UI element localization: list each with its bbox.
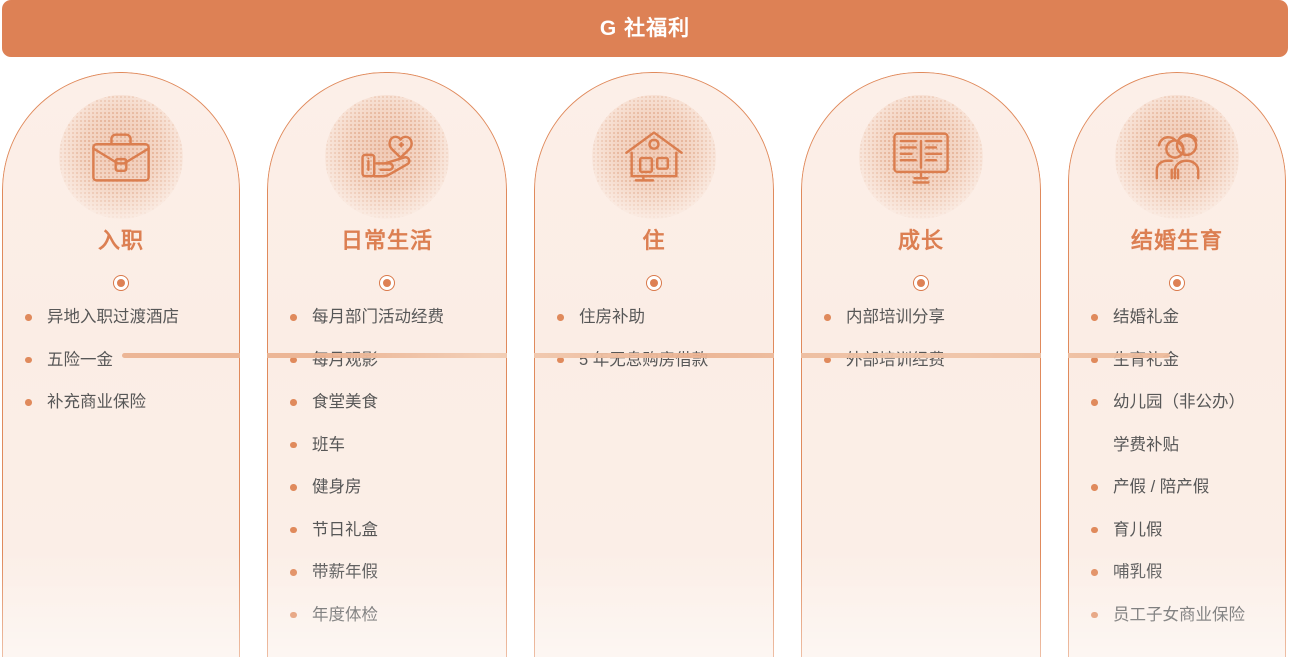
list-item: 食堂美食 xyxy=(268,390,506,414)
bullet-icon xyxy=(290,442,297,449)
list-item: 健身房 xyxy=(268,475,506,499)
bullet-icon xyxy=(25,399,32,406)
list-item-label: 每月部门活动经费 xyxy=(312,308,444,326)
bullet-icon xyxy=(290,484,297,491)
list-item-label: 内部培训分享 xyxy=(846,308,945,326)
bullet-icon xyxy=(1091,314,1098,321)
bullet-icon xyxy=(1091,612,1098,619)
list-item: 结婚礼金 xyxy=(1069,305,1285,329)
list-item-label: 食堂美食 xyxy=(312,393,378,411)
connector-gap xyxy=(1041,347,1068,365)
list-item: 节日礼盒 xyxy=(268,518,506,542)
briefcase-icon xyxy=(87,123,155,191)
list-item: 生育礼金 xyxy=(1069,348,1285,372)
list-item: 幼儿园（非公办） 学费补贴 xyxy=(1069,390,1285,457)
bullet-icon xyxy=(824,314,831,321)
list-item: 班车 xyxy=(268,433,506,457)
list-item-label: 带薪年假 xyxy=(312,563,378,581)
connector-gap xyxy=(507,347,534,365)
bullet-icon xyxy=(25,357,32,364)
benefit-card-daily-life[interactable]: 日常生活 每月部门活动经费 每月观影 食堂美食 班车 健身房 xyxy=(267,72,507,657)
benefit-columns: 入职 异地入职过渡酒店 五险一金 补充商业保险 xyxy=(0,72,1292,657)
hand-heart-icon xyxy=(353,123,421,191)
card-title: 结婚生育 xyxy=(1069,228,1285,254)
icon-container xyxy=(268,91,506,223)
bullet-icon xyxy=(1091,399,1098,406)
list-item: 每月观影 xyxy=(268,348,506,372)
bullet-icon xyxy=(557,314,564,321)
timeline-node-dot[interactable] xyxy=(913,275,929,291)
card-title: 日常生活 xyxy=(268,228,506,254)
list-item: 补充商业保险 xyxy=(3,390,239,414)
list-item: 员工子女商业保险 xyxy=(1069,603,1285,627)
timeline-node-dot[interactable] xyxy=(1169,275,1185,291)
list-item-label: 育儿假 xyxy=(1113,521,1163,539)
bullet-icon xyxy=(290,527,297,534)
timeline-node-dot[interactable] xyxy=(113,275,129,291)
list-item: 住房补助 xyxy=(535,305,773,329)
list-item-label: 哺乳假 xyxy=(1113,563,1163,581)
icon-container xyxy=(1069,91,1285,223)
card-title: 入职 xyxy=(3,228,239,254)
bullet-icon xyxy=(1091,569,1098,576)
list-item-label: 产假 / 陪产假 xyxy=(1113,478,1209,496)
bullet-icon xyxy=(1091,484,1098,491)
list-item-label: 健身房 xyxy=(312,478,362,496)
list-item-label: 节日礼盒 xyxy=(312,521,378,539)
connector-gap xyxy=(240,347,267,365)
list-item-label: 结婚礼金 xyxy=(1113,308,1179,326)
connector-gap xyxy=(774,347,801,365)
list-item: 五险一金 xyxy=(3,348,239,372)
benefit-list: 异地入职过渡酒店 五险一金 补充商业保险 xyxy=(3,305,239,433)
bullet-icon xyxy=(25,314,32,321)
list-item-label-continued: 学费补贴 xyxy=(1113,433,1275,457)
list-item: 异地入职过渡酒店 xyxy=(3,305,239,329)
benefit-card-growth[interactable]: 成长 内部培训分享 外部培训经费 xyxy=(801,72,1041,657)
list-item-label: 异地入职过渡酒店 xyxy=(47,308,179,326)
benefit-card-housing[interactable]: 住 住房补助 5 年无息购房借款 xyxy=(534,72,774,657)
monitor-book-icon xyxy=(887,123,955,191)
icon-container xyxy=(535,91,773,223)
list-item-label: 员工子女商业保险 xyxy=(1113,606,1245,624)
list-item: 每月部门活动经费 xyxy=(268,305,506,329)
list-item-label: 住房补助 xyxy=(579,308,645,326)
icon-container xyxy=(802,91,1040,223)
bullet-icon xyxy=(1091,527,1098,534)
timeline-node-dot[interactable] xyxy=(379,275,395,291)
list-item: 5 年无息购房借款 xyxy=(535,348,773,372)
page-title: G 社福利 xyxy=(600,18,690,39)
bullet-icon xyxy=(290,314,297,321)
benefit-card-marriage-parenting[interactable]: 结婚生育 结婚礼金 生育礼金 幼儿园（非公办） 学费补贴 产假 / 陪产假 xyxy=(1068,72,1286,657)
list-item-label: 补充商业保险 xyxy=(47,393,146,411)
list-item: 哺乳假 xyxy=(1069,560,1285,584)
list-item: 外部培训经费 xyxy=(802,348,1040,372)
couple-icon xyxy=(1143,123,1211,191)
list-item-label: 年度体检 xyxy=(312,606,378,624)
timeline-node-dot[interactable] xyxy=(646,275,662,291)
benefit-card-onboarding[interactable]: 入职 异地入职过渡酒店 五险一金 补充商业保险 xyxy=(2,72,240,657)
list-item-label: 班车 xyxy=(312,436,345,454)
list-item: 年度体检 xyxy=(268,603,506,627)
benefit-list: 住房补助 5 年无息购房借款 xyxy=(535,305,773,390)
house-icon xyxy=(620,123,688,191)
list-item: 产假 / 陪产假 xyxy=(1069,475,1285,499)
bullet-icon xyxy=(290,612,297,619)
list-item: 带薪年假 xyxy=(268,560,506,584)
card-title: 成长 xyxy=(802,228,1040,254)
benefit-list: 内部培训分享 外部培训经费 xyxy=(802,305,1040,390)
timeline-connector-line xyxy=(122,353,1170,358)
list-item: 内部培训分享 xyxy=(802,305,1040,329)
bullet-icon xyxy=(290,399,297,406)
bullet-icon xyxy=(290,569,297,576)
icon-container xyxy=(3,91,239,223)
list-item-label: 五险一金 xyxy=(47,351,113,369)
list-item-label: 幼儿园（非公办） xyxy=(1113,393,1245,411)
header-bar: G 社福利 xyxy=(2,0,1288,57)
card-title: 住 xyxy=(535,228,773,254)
list-item: 育儿假 xyxy=(1069,518,1285,542)
